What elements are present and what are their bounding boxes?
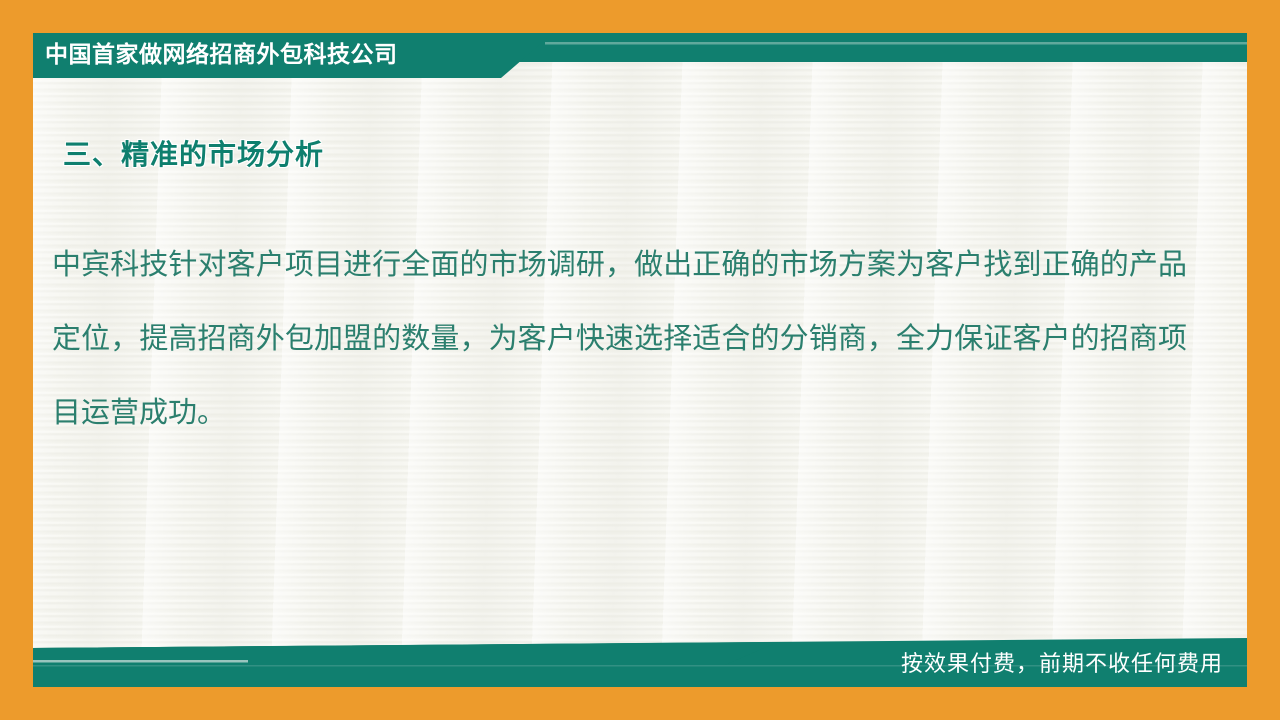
footer-tagline: 按效果付费，前期不收任何费用 — [901, 648, 1223, 680]
body-paragraph: 中宾科技针对客户项目进行全面的市场调研，做出正确的市场方案为客户找到正确的产品定… — [52, 228, 1187, 450]
header-title: 中国首家做网络招商外包科技公司 — [45, 35, 398, 73]
slide-canvas: 中国首家做网络招商外包科技公司 三、精准的市场分析 中宾科技针对客户项目进行全面… — [0, 0, 1280, 720]
page-title: 三、精准的市场分析 — [63, 133, 324, 173]
